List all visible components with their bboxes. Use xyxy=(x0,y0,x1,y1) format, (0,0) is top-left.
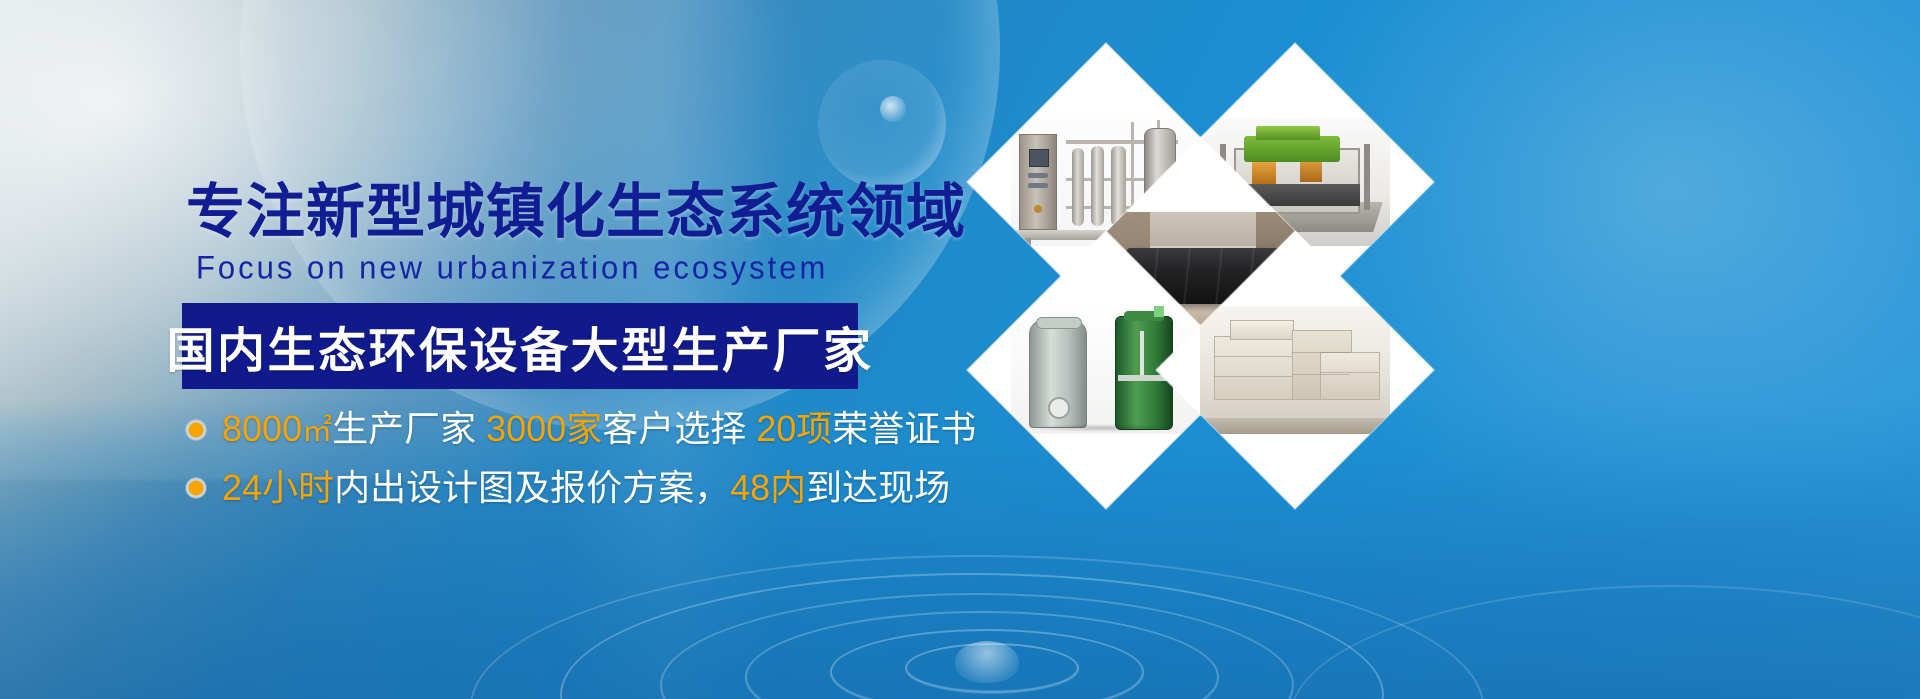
text-segment: 家 xyxy=(566,408,602,449)
text-segment: 小时 xyxy=(262,467,334,508)
text-segment: 客户选择 xyxy=(602,408,746,449)
text-segment: 内出设计图及报价方案， xyxy=(334,467,730,508)
text-segment: 生产厂家 xyxy=(332,408,476,449)
text-segment: 内 xyxy=(770,467,806,508)
bullet-dot-icon xyxy=(186,478,206,498)
text-segment: 8000 xyxy=(222,408,302,449)
feature-list: 8000㎡生产厂家 3000家客户选择 20项荣誉证书 24小时内出设计图及报价… xyxy=(186,404,906,514)
highlight-banner-label: 国内生态环保设备大型生产厂家 xyxy=(182,303,858,389)
bullet-dot-icon xyxy=(186,420,206,440)
text-segment: ㎡ xyxy=(302,415,332,448)
product-diamond-gallery xyxy=(900,0,1920,699)
page-title: 专注新型城镇化生态系统领域 xyxy=(186,180,966,244)
text-segment: 24 xyxy=(222,467,262,508)
page-subtitle: Focus on new urbanization ecosystem xyxy=(196,248,828,288)
stacked-aerated-concrete-blocks-image xyxy=(1200,306,1390,434)
banner-copy-block: 专注新型城镇化生态系统领域 Focus on new urbanization … xyxy=(0,0,920,699)
feature-line-1: 8000㎡生产厂家 3000家客户选择 20项荣誉证书 xyxy=(222,407,976,454)
text-segment: 48 xyxy=(730,467,770,508)
promo-banner: 专注新型城镇化生态系统领域 Focus on new urbanization … xyxy=(0,0,1920,699)
text-segment: 3000 xyxy=(476,408,566,449)
text-segment: 项 xyxy=(796,408,832,449)
text-segment: 20 xyxy=(746,408,796,449)
list-item: 24小时内出设计图及报价方案，48内到达现场 xyxy=(186,462,906,514)
feature-line-2: 24小时内出设计图及报价方案，48内到达现场 xyxy=(222,466,950,510)
highlight-banner-box: 国内生态环保设备大型生产厂家 xyxy=(182,303,858,389)
list-item: 8000㎡生产厂家 3000家客户选择 20项荣誉证书 xyxy=(186,404,906,456)
